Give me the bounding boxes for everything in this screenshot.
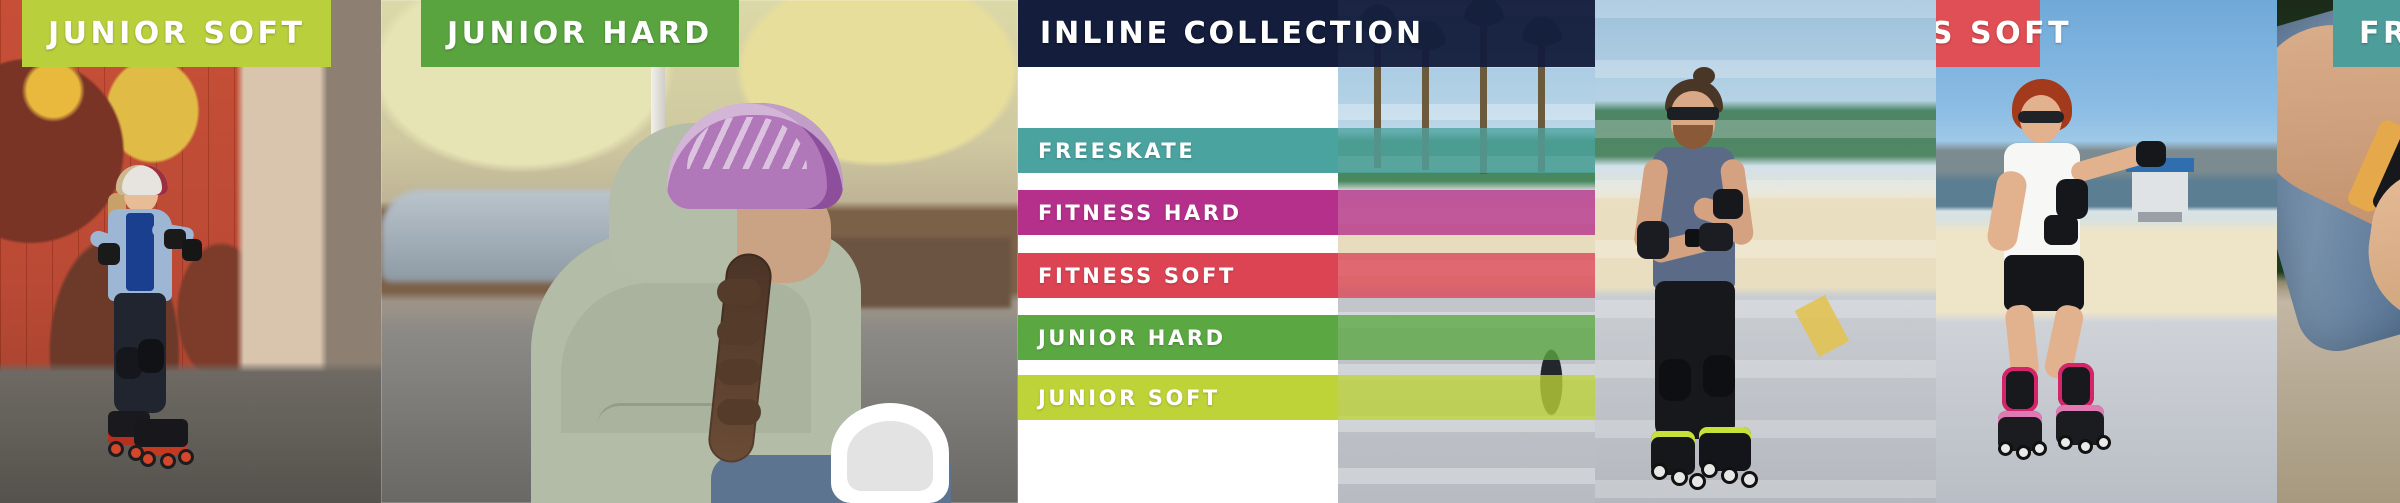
female-skater-figure <box>1998 75 2198 495</box>
panel-fitness-soft-woman[interactable]: FITNESS SOFT <box>1936 0 2277 503</box>
panel-junior-hard-girl[interactable]: JUNIOR HARD <box>381 0 1018 503</box>
legend-row-fitness-hard[interactable]: FITNESS HARD <box>1018 190 1595 235</box>
banner-freeskate[interactable]: FREESKATE <box>2333 0 2400 67</box>
legend-white-card <box>1018 0 1338 503</box>
banner-label: FITNESS SOFT <box>1936 16 2072 51</box>
legend-label: JUNIOR SOFT <box>1038 386 1220 410</box>
legend-label: FITNESS SOFT <box>1038 264 1236 288</box>
legend-row-junior-hard[interactable]: JUNIOR HARD <box>1018 315 1595 360</box>
legend-row-freeskate[interactable]: FREESKATE <box>1018 128 1595 173</box>
panel-freeskate-detail[interactable]: FREESKATE FILA SKATES <box>2277 0 2400 503</box>
legend-swatch-overlay <box>1338 315 1595 360</box>
banner-label: JUNIOR HARD <box>447 16 713 51</box>
panel-junior-soft-girl[interactable]: JUNIOR SOFT <box>0 0 381 503</box>
legend-swatch-overlay <box>1338 253 1595 298</box>
banner-junior-soft[interactable]: JUNIOR SOFT <box>22 0 331 67</box>
legend-swatch-overlay <box>1338 128 1595 173</box>
banner-junior-hard[interactable]: JUNIOR HARD <box>421 0 739 67</box>
legend-swatch-overlay <box>1338 190 1595 235</box>
legend-label: JUNIOR HARD <box>1038 326 1226 350</box>
legend-row-fitness-soft[interactable]: FITNESS SOFT <box>1018 253 1595 298</box>
legend-header-label: INLINE COLLECTION <box>1040 16 1424 51</box>
legend-label: FREESKATE <box>1038 139 1195 163</box>
banner-fitness-soft[interactable]: FITNESS SOFT <box>1936 0 2040 67</box>
junior-girl-skater-figure <box>86 143 206 503</box>
male-skater-figure <box>1641 63 1821 503</box>
panel-fitness-soft-man[interactable] <box>1595 0 1936 503</box>
legend-row-junior-soft[interactable]: JUNIOR SOFT <box>1018 375 1595 420</box>
legend-header-text-layer: INLINE COLLECTION <box>1018 0 1338 67</box>
banner-label: FREESKATE <box>2359 16 2400 51</box>
junior-hard-girl-figure <box>531 103 991 503</box>
panel-inline-collection-legend[interactable]: INLINE COLLECTION INLINE COLLECTION FREE… <box>1018 0 1595 503</box>
banner-label: JUNIOR SOFT <box>48 16 305 51</box>
inline-collection-banner-strip: JUNIOR SOFT JUNIOR HARD <box>0 0 2400 503</box>
legend-label: FITNESS HARD <box>1038 201 1242 225</box>
legend-swatch-overlay <box>1338 375 1595 420</box>
